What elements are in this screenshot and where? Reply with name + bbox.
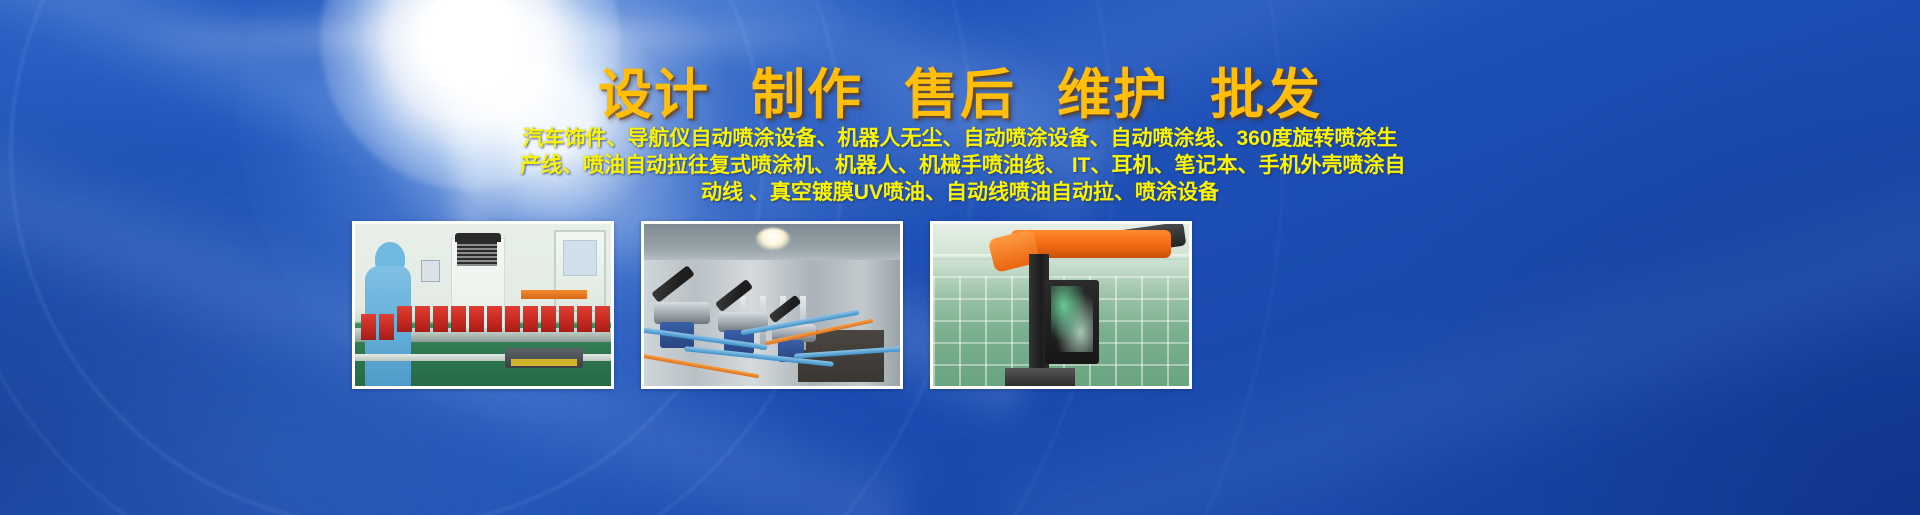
photo-spray-gun-booth[interactable] [641,221,903,389]
headline-word-manufacture: 制作 [751,65,863,125]
headline-word-maintenance: 维护 [1057,65,1169,125]
photo-strip [352,221,1192,391]
subtitle-line-3: 动线 、真空镀膜UV喷油、自动线喷油自动拉、喷涂设备 [520,179,1400,206]
photo-scene [933,224,1189,386]
photo-cleanroom-coating-line[interactable] [352,221,614,389]
headline-word-design: 设计 [598,65,710,125]
subtitle-line-1: 汽车饰件、导航仪自动喷涂设备、机器人无尘、自动喷涂设备、自动喷涂线、360度旋转… [520,125,1400,152]
photo-scene [644,224,900,386]
photo-robot-spray-arm[interactable] [930,221,1192,389]
headline: 设计 制作 售后 维护 批发 [0,50,1920,129]
headline-word-aftersales: 售后 [904,65,1016,125]
subtitle-line-2: 产线、喷油自动拉往复式喷涂机、机器人、机械手喷油线、 IT、耳机、笔记本、手机外… [520,152,1400,179]
headline-word-wholesale: 批发 [1210,65,1322,125]
subtitle-block: 汽车饰件、导航仪自动喷涂设备、机器人无尘、自动喷涂设备、自动喷涂线、360度旋转… [520,125,1400,206]
photo-scene [355,224,611,386]
promo-banner: 设计 制作 售后 维护 批发 汽车饰件、导航仪自动喷涂设备、机器人无尘、自动喷涂… [0,0,1920,515]
banner-content: 设计 制作 售后 维护 批发 汽车饰件、导航仪自动喷涂设备、机器人无尘、自动喷涂… [0,0,1920,515]
